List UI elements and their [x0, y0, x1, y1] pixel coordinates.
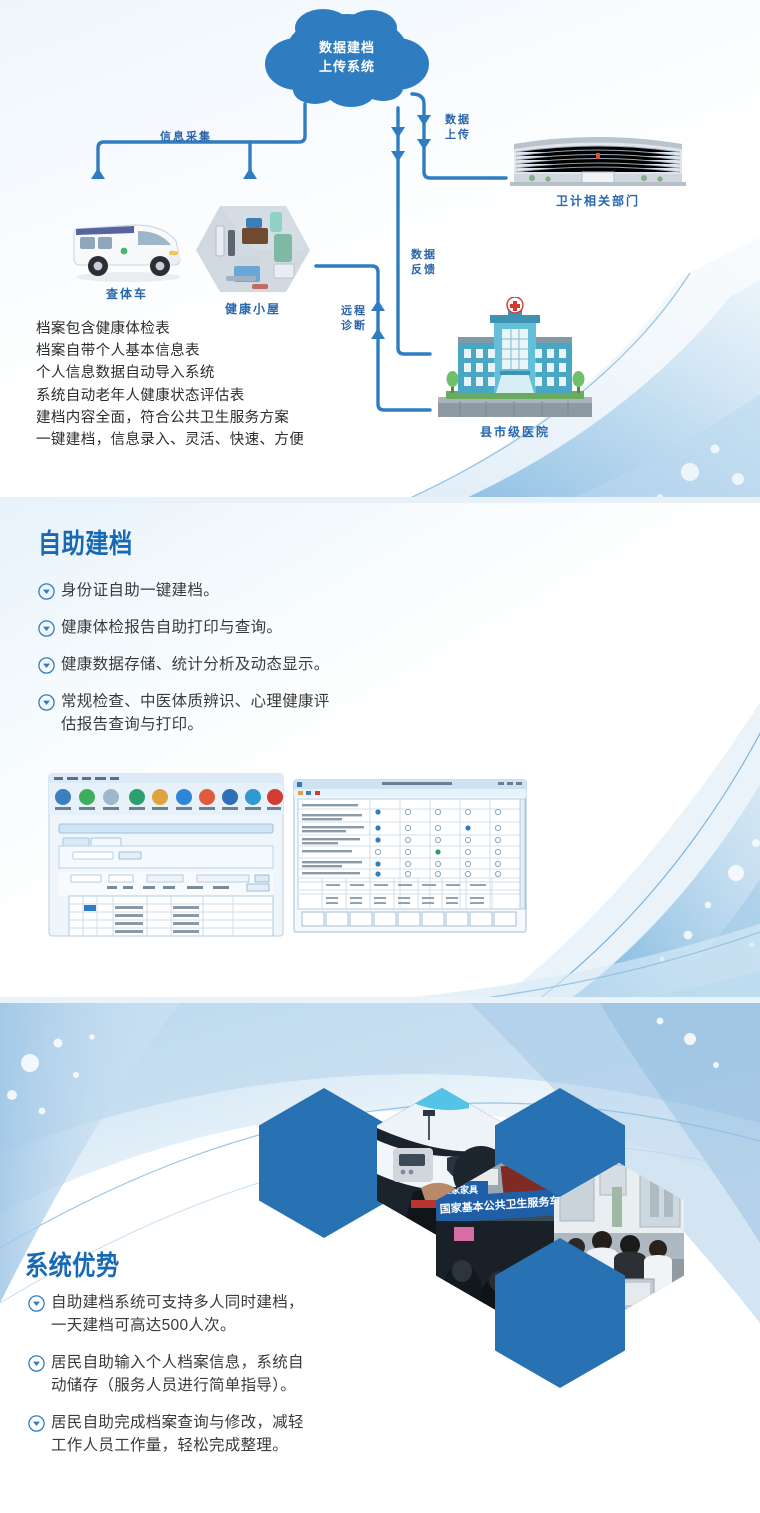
feature-line: 档案包含健康体检表: [36, 318, 406, 340]
chevron-down-circle-icon: [28, 1355, 45, 1372]
list-item-text: 居民自助输入个人档案信息，系统自 动储存（服务人员进行简单指导）。: [51, 1351, 304, 1397]
feature-line: 一键建档，信息录入、灵活、快速、方便: [36, 429, 406, 451]
node-caption-hut: 健康小屋: [190, 300, 316, 317]
list-item: 常规检查、中医体质辨识、心理健康评 估报告查询与打印。: [38, 690, 488, 736]
diagram-feature-list: 档案包含健康体检表 档案自带个人基本信息表 个人信息数据自动导入系统 系统自动老…: [36, 318, 406, 451]
chevron-down-circle-icon: [38, 583, 55, 600]
list-item-text: 健康数据存储、统计分析及动态显示。: [61, 653, 330, 676]
government-building-icon: [510, 128, 686, 190]
cloud-node-label: 数据建档 上传系统: [263, 38, 431, 76]
flow-label-collect: 信息采集: [160, 130, 212, 145]
list-item: 健康体检报告自助打印与查询。: [38, 616, 488, 639]
promo-page: 数据建档 上传系统 信息采集 数据上传 数据反馈 远程诊断: [0, 0, 760, 1513]
chevron-down-circle-icon: [38, 620, 55, 637]
node-caption-gov: 卫计相关部门: [510, 192, 686, 209]
health-hut-icon: [190, 200, 316, 298]
form-window-icon: [292, 778, 528, 934]
list-item: 居民自助完成档案查询与修改，减轻 工作人员工作量，轻松完成整理。: [28, 1411, 468, 1457]
app-screenshot-assessment-form: [292, 778, 528, 934]
flow-label-feedback: 数据反馈: [406, 248, 442, 278]
list-item-text: 居民自助完成档案查询与修改，减轻 工作人员工作量，轻松完成整理。: [51, 1411, 304, 1457]
list-item: 自助建档系统可支持多人同时建档， 一天建档可高达500人次。: [28, 1291, 468, 1337]
hospital-icon: [430, 297, 600, 422]
node-caption-van: 查体车: [68, 285, 186, 302]
chevron-down-circle-icon: [28, 1295, 45, 1312]
list-item-text: 健康体检报告自助打印与查询。: [61, 616, 282, 639]
feature-line: 系统自动老年人健康状态评估表: [36, 385, 406, 407]
section3-heading: 系统优势: [25, 1251, 120, 1281]
list-item-text: 常规检查、中医体质辨识、心理健康评 估报告查询与打印。: [61, 690, 330, 736]
feature-line: 建档内容全面，符合公共卫生服务方案: [36, 407, 406, 429]
list-item: 居民自助输入个人档案信息，系统自 动储存（服务人员进行简单指导）。: [28, 1351, 468, 1397]
government-building-image: 卫计相关部门: [510, 128, 686, 190]
section2-heading: 自助建档: [38, 529, 133, 559]
app-window-icon: [47, 772, 285, 938]
van-icon: [68, 211, 186, 283]
medical-van-image: 查体车: [68, 211, 186, 283]
list-item: 身份证自助一键建档。: [38, 579, 488, 602]
chevron-down-circle-icon: [38, 694, 55, 711]
section2-bullet-list: 身份证自助一键建档。 健康体检报告自助打印与查询。 健康数据存储、统计分析及动态…: [38, 579, 488, 750]
chevron-down-circle-icon: [28, 1415, 45, 1432]
cloud-node: 数据建档 上传系统: [263, 8, 431, 113]
section-architecture-diagram: 数据建档 上传系统 信息采集 数据上传 数据反馈 远程诊断: [0, 0, 760, 497]
app-screenshot-archive-list: [47, 772, 285, 938]
list-item: 健康数据存储、统计分析及动态显示。: [38, 653, 488, 676]
list-item-text: 身份证自助一键建档。: [61, 579, 219, 602]
hexagon-decorative-blue: [259, 1088, 389, 1238]
section3-bullet-list: 自助建档系统可支持多人同时建档， 一天建档可高达500人次。 居民自助输入个人档…: [28, 1291, 468, 1471]
chevron-down-circle-icon: [38, 657, 55, 674]
flow-label-upload: 数据上传: [440, 113, 476, 143]
county-hospital-image: 县市级医院: [430, 297, 600, 422]
list-item-text: 自助建档系统可支持多人同时建档， 一天建档可高达500人次。: [51, 1291, 304, 1337]
feature-line: 个人信息数据自动导入系统: [36, 362, 406, 384]
feature-line: 档案自带个人基本信息表: [36, 340, 406, 362]
health-hut-image: 健康小屋: [190, 200, 316, 298]
node-caption-hospital: 县市级医院: [430, 423, 600, 440]
section-system-advantages: 杭州 时尚美发 全家家具 国家基本公共卫生服务车: [0, 1003, 760, 1513]
